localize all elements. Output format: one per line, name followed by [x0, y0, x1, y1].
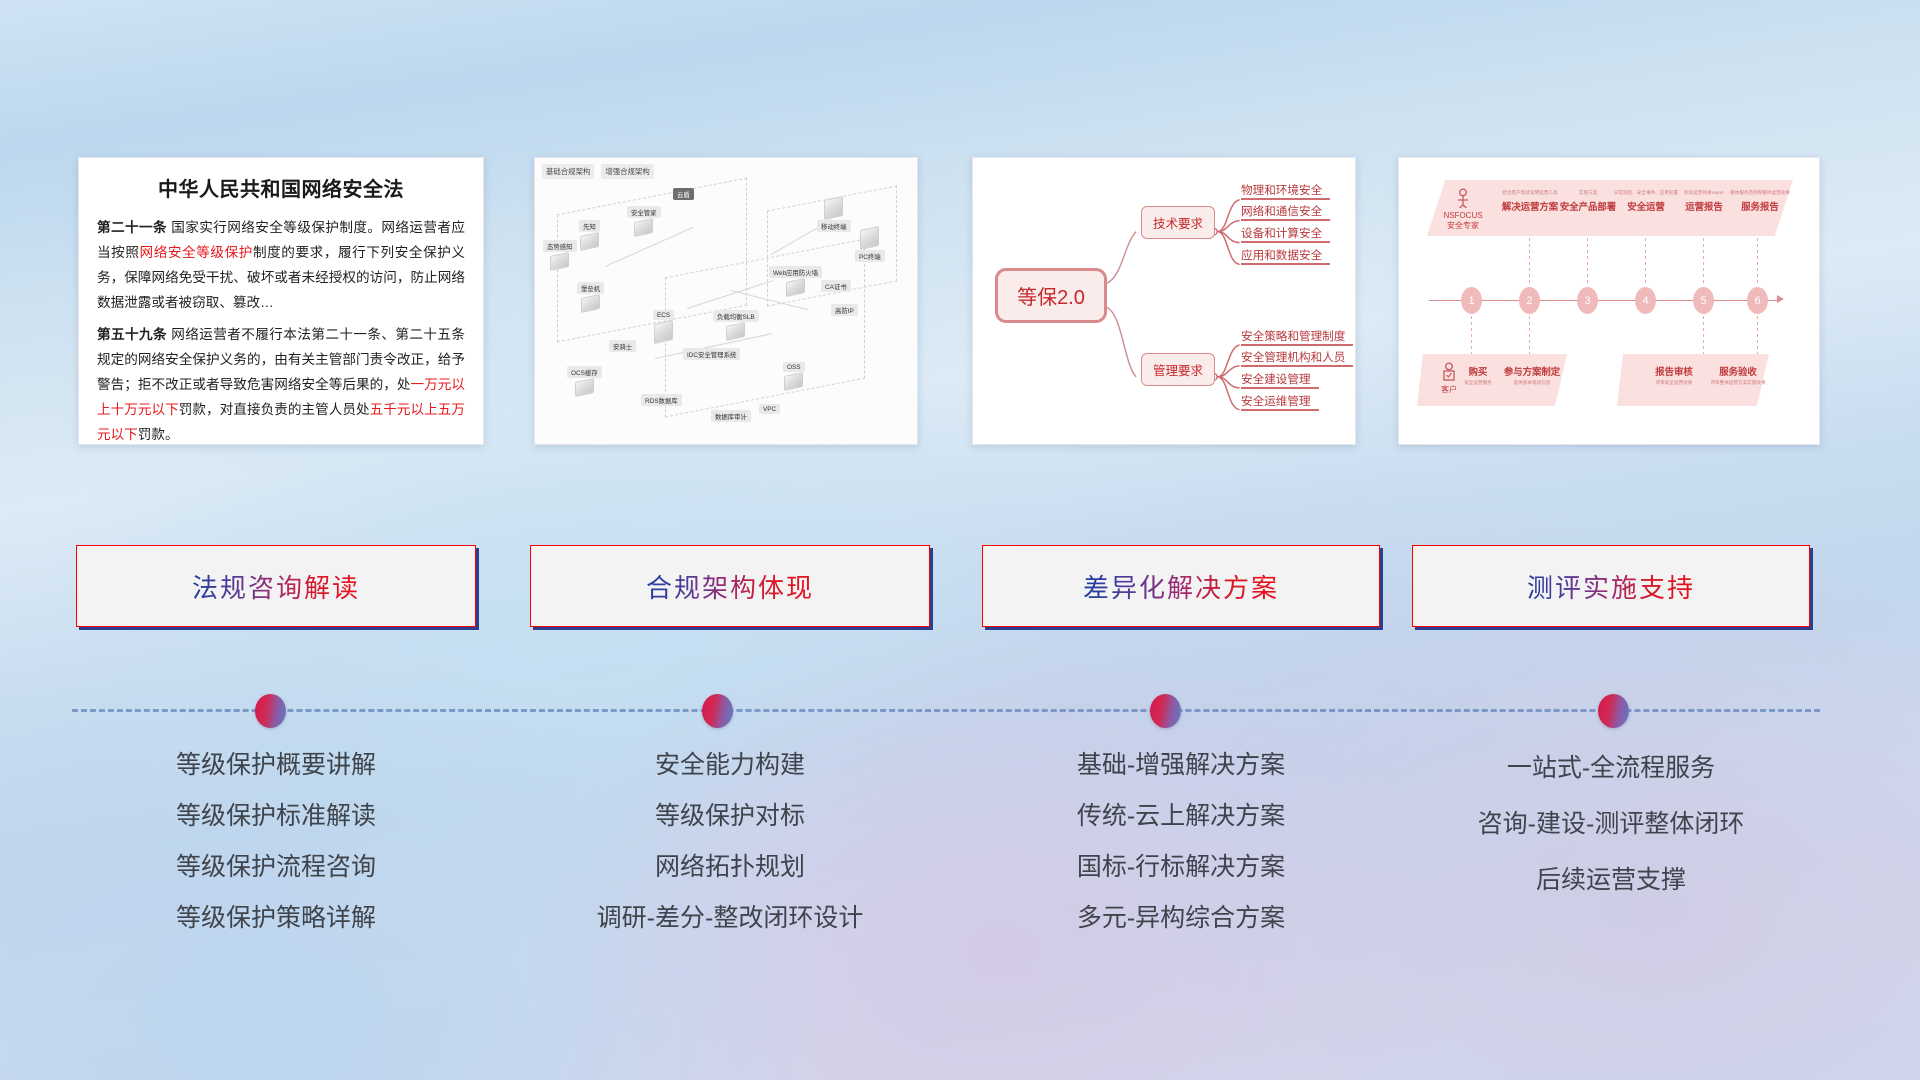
server-cube-icon [575, 378, 594, 397]
node-label: Web应用防火墙 [769, 266, 822, 278]
heading-label-4: 测评实施支持 [1527, 568, 1695, 605]
node-xianzhi: 先知 [579, 220, 600, 249]
flow-step-4: 4 [1635, 287, 1656, 314]
flow-bottom-item-3: 报告审核 评审安全运营效果 [1641, 364, 1707, 386]
node-label: 安骑士 [609, 340, 636, 352]
timeline-dashed-line [72, 709, 1820, 712]
server-cube-icon [634, 218, 653, 237]
device-cube-icon [824, 196, 843, 220]
node-vpc: VPC [759, 404, 780, 416]
flow-connector-3 [1587, 238, 1588, 286]
server-cube-icon [550, 252, 569, 271]
node-cloud-shield: 云盾 [673, 188, 694, 202]
mindmap-leaf-network-comm: 网络和通信安全 [1241, 203, 1322, 221]
section-headings-row: 法规咨询解读 合规架构体现 差异化解决方案 测评实施支持 [0, 545, 1920, 655]
mindmap-leaf-app-data: 应用和数据安全 [1241, 247, 1322, 265]
card-service-flow: NSFOCUS 安全专家 客户 1 2 3 4 5 [1398, 157, 1820, 445]
reference-cards-row: 中华人民共和国网络安全法 第二十一条 国家实行网络安全等级保护制度。网络运营者应… [0, 150, 1920, 450]
detail-columns-row: 等级保护概要讲解 等级保护标准解读 等级保护流程咨询 等级保护策略详解 安全能力… [0, 740, 1920, 970]
mindmap-leaf-device-compute: 设备和计算安全 [1241, 225, 1322, 243]
node-label: 数据库审计 [711, 410, 751, 422]
node-label: 高防IP [831, 304, 858, 316]
list-item: 调研-差分-整改闭环设计 [530, 893, 930, 944]
node-security-butler: 安全管家 [627, 206, 661, 235]
list-item: 等级保护流程咨询 [76, 842, 476, 893]
customer-label: 客户 [1421, 385, 1477, 395]
timeline-dot-2[interactable] [702, 694, 733, 728]
flow-connector-2 [1529, 238, 1530, 286]
flow-step-6: 6 [1747, 287, 1768, 314]
flow-connector-4 [1645, 238, 1646, 286]
mindmap-leaf-construction-mgmt: 安全建设管理 [1241, 371, 1311, 389]
card-mindmap-dengbao: 等保2.0 技术要求 管理要求 物理和环境安全 网络和通信安全 设备和计算安全 … [972, 157, 1356, 445]
law-content: 中华人民共和国网络安全法 第二十一条 国家实行网络安全等级保护制度。网络运营者应… [79, 158, 483, 445]
node-ecs: ECS [653, 310, 674, 342]
mindmap-leaf-ops-mgmt: 安全运维管理 [1241, 393, 1311, 411]
list-item: 基础-增强解决方案 [982, 740, 1380, 791]
flow-bottom-main-4: 服务验收 [1705, 364, 1771, 378]
service-flow-diagram: NSFOCUS 安全专家 客户 1 2 3 4 5 [1399, 158, 1819, 444]
expert-line2: 安全专家 [1435, 221, 1491, 231]
mindmap-leaf-org-personnel: 安全管理机构和人员 [1241, 349, 1345, 367]
node-label: ECS [653, 310, 674, 320]
flow-step-5: 5 [1693, 287, 1714, 314]
node-ca-certificate: CA证书 [821, 280, 851, 294]
detail-column-3: 基础-增强解决方案 传统-云上解决方案 国标-行标解决方案 多元-异构综合方案 [982, 740, 1380, 944]
server-cube-icon [654, 320, 673, 344]
article-21-label: 第二十一条 [97, 220, 167, 235]
law-article-21: 第二十一条 国家实行网络安全等级保护制度。网络运营者应当按照网络安全等级保护制度… [97, 215, 465, 315]
node-database-audit: 数据库审计 [711, 410, 751, 424]
heading-box-compliance-architecture[interactable]: 合规架构体现 [530, 545, 930, 627]
heading-label-2: 合规架构体现 [646, 568, 814, 605]
expert-line1: NSFOCUS [1435, 211, 1491, 221]
node-anqishi: 安骑士 [609, 340, 636, 354]
node-label: CA证书 [821, 280, 851, 292]
flow-step-3: 3 [1577, 287, 1598, 314]
list-item: 多元-异构综合方案 [982, 893, 1380, 944]
detail-column-4: 一站式-全流程服务 咨询-建设-测评整体闭环 后续运营支撑 [1412, 740, 1810, 908]
card-cybersecurity-law: 中华人民共和国网络安全法 第二十一条 国家实行网络安全等级保护制度。网络运营者应… [78, 157, 484, 445]
flow-step-1: 1 [1461, 287, 1482, 314]
flow-connector-6 [1757, 238, 1758, 286]
architecture-tabs: 基础合规架构 增强合规架构 [542, 164, 654, 179]
node-bastion-host: 堡垒机 [577, 282, 604, 311]
flow-connector-b2 [1529, 316, 1530, 354]
node-label: 堡垒机 [577, 282, 604, 294]
node-label: 先知 [579, 220, 600, 232]
node-label: OCS缓存 [567, 366, 602, 378]
server-cube-icon [580, 232, 599, 251]
heading-box-evaluation-support[interactable]: 测评实施支持 [1412, 545, 1810, 627]
node-label: 移动终端 [817, 220, 851, 232]
flow-bottom-item-4: 服务验收 评审整体运营方案实施效果 [1705, 364, 1771, 386]
node-label: OSS [783, 362, 805, 372]
node-label: PC终端 [855, 250, 885, 262]
mindmap-leaf-policy-system: 安全策略和管理制度 [1241, 328, 1345, 346]
flow-connector-b4 [1757, 316, 1758, 354]
card-cloud-architecture: 基础合规架构 增强合规架构 云盾 安全管家 [534, 157, 918, 445]
flow-arrow-icon [1777, 295, 1784, 303]
node-rds-database: RDS数据库 [641, 394, 682, 408]
node-situation-awareness: 态势感知 [543, 240, 577, 269]
mindmap-branch-technical: 技术要求 [1141, 206, 1215, 239]
mindmap-leaf-physical-env: 物理和环境安全 [1241, 182, 1322, 200]
server-cube-icon [581, 294, 600, 313]
heading-box-regulation-consulting[interactable]: 法规咨询解读 [76, 545, 476, 627]
mindmap-root-node: 等保2.0 [995, 268, 1107, 323]
node-oss: OSS [783, 362, 805, 389]
list-item: 安全能力构建 [530, 740, 930, 791]
server-cube-icon [784, 372, 803, 391]
tab-enhanced-architecture: 增强合规架构 [601, 164, 653, 179]
server-cube-icon [726, 322, 745, 341]
list-item: 等级保护对标 [530, 791, 930, 842]
device-cube-icon [860, 226, 879, 250]
node-label: VPC [759, 404, 780, 414]
node-label: 负载均衡SLB [713, 310, 759, 322]
list-item: 后续运营支撑 [1412, 852, 1810, 908]
timeline-dot-1[interactable] [255, 694, 286, 728]
flow-bottom-sub-3: 评审安全运营效果 [1641, 380, 1707, 386]
law-article-59: 第五十九条 网络运营者不履行本法第二十一条、第二十五条规定的网络安全保护义务的，… [97, 322, 465, 445]
flow-actor-expert: NSFOCUS 安全专家 [1435, 188, 1491, 231]
timeline [0, 690, 1920, 730]
mindmap-branch-management: 管理要求 [1141, 353, 1215, 386]
list-item: 国标-行标解决方案 [982, 842, 1380, 893]
heading-label-3: 差异化解决方案 [1083, 568, 1279, 605]
list-item: 等级保护概要讲解 [76, 740, 476, 791]
flow-bottom-main-2: 参与方案制定 [1499, 364, 1565, 378]
article-59-text-b: 罚款，对直接负责的主管人员处 [179, 402, 370, 417]
heading-label-1: 法规咨询解读 [192, 568, 360, 605]
node-mobile-terminal: 移动终端 [817, 198, 851, 232]
node-label: 安全管家 [627, 206, 661, 218]
flow-bottom-sub-2: 提供基本现状信息 [1499, 380, 1565, 386]
heading-box-differentiated-solution[interactable]: 差异化解决方案 [982, 545, 1380, 627]
flow-connector-5 [1703, 238, 1704, 286]
node-label: RDS数据库 [641, 394, 682, 406]
article-21-highlight: 网络安全等级保护 [140, 245, 253, 260]
node-label: IDC安全管理系统 [683, 348, 740, 360]
list-item: 等级保护标准解读 [76, 791, 476, 842]
flow-step-2: 2 [1519, 287, 1540, 314]
flow-bottom-sub-4: 评审整体运营方案实施效果 [1705, 380, 1771, 386]
flow-bottom-main-3: 报告审核 [1641, 364, 1707, 378]
article-59-label: 第五十九条 [97, 327, 167, 342]
flow-connector-b3 [1703, 316, 1704, 354]
list-item: 网络拓扑规划 [530, 842, 930, 893]
tab-basic-architecture: 基础合规架构 [542, 164, 594, 179]
server-cube-icon [786, 278, 805, 297]
flow-top-item-5: 整体服务范围和整体运营效果 服务报告 [1723, 190, 1797, 213]
detail-column-1: 等级保护概要讲解 等级保护标准解读 等级保护流程咨询 等级保护策略详解 [76, 740, 476, 944]
flow-top-sub-5: 整体服务范围和整体运营效果 [1723, 190, 1797, 196]
detail-column-2: 安全能力构建 等级保护对标 网络拓扑规划 调研-差分-整改闭环设计 [530, 740, 930, 944]
expert-person-icon [1454, 188, 1472, 208]
node-anti-ddos-ip: 高防IP [831, 304, 858, 318]
node-pc-terminal: PC终端 [855, 228, 885, 262]
list-item: 一站式-全流程服务 [1412, 740, 1810, 796]
article-59-text-c: 罚款。 [138, 427, 179, 442]
flow-connector-b1 [1471, 316, 1472, 354]
list-item: 传统-云上解决方案 [982, 791, 1380, 842]
architecture-diagram: 基础合规架构 增强合规架构 云盾 安全管家 [535, 158, 917, 444]
node-idc-security-system: IDC安全管理系统 [683, 348, 740, 362]
timeline-dot-4[interactable] [1598, 694, 1629, 728]
infographic-canvas: 中华人民共和国网络安全法 第二十一条 国家实行网络安全等级保护制度。网络运营者应… [0, 0, 1920, 1080]
node-label: 态势感知 [543, 240, 577, 252]
list-item: 咨询-建设-测评整体闭环 [1412, 796, 1810, 852]
node-label: 云盾 [673, 188, 694, 200]
node-slb: 负载均衡SLB [713, 310, 759, 339]
node-ocs-cache: OCS缓存 [567, 366, 602, 395]
list-item: 等级保护策略详解 [76, 893, 476, 944]
node-waf: Web应用防火墙 [769, 266, 822, 295]
timeline-dot-3[interactable] [1150, 694, 1181, 728]
mindmap: 等保2.0 技术要求 管理要求 物理和环境安全 网络和通信安全 设备和计算安全 … [973, 158, 1355, 444]
law-title: 中华人民共和国网络安全法 [97, 173, 465, 202]
flow-bottom-item-2: 参与方案制定 提供基本现状信息 [1499, 364, 1565, 386]
flow-top-main-5: 服务报告 [1723, 199, 1797, 213]
